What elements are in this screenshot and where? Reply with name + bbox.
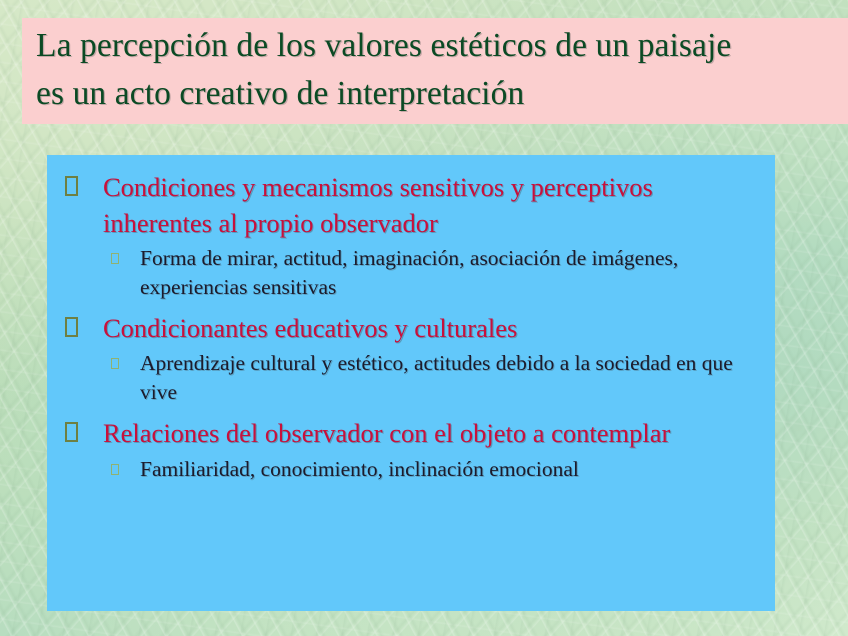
sub-list-wrapper: Forma de mirar, actitud, imaginación, as… xyxy=(101,244,757,301)
list-item: Forma de mirar, actitud, imaginación, as… xyxy=(101,244,757,301)
bullet-list-level-2: Aprendizaje cultural y estético, actitud… xyxy=(101,349,757,406)
list-item-label: Aprendizaje cultural y estético, actitud… xyxy=(140,349,757,406)
bullet-list-level-2: Familiaridad, conocimiento, inclinación … xyxy=(101,455,757,484)
slide-title: La percepción de los valores estéticos d… xyxy=(36,22,836,117)
list-item: Relaciones del observador con el objeto … xyxy=(61,415,757,451)
small-hollow-square-bullet-icon xyxy=(111,464,119,475)
hollow-square-bullet-icon xyxy=(65,317,78,337)
slide-title-band: La percepción de los valores estéticos d… xyxy=(22,18,848,124)
hollow-square-bullet-icon xyxy=(65,176,78,196)
sub-list-wrapper: Aprendizaje cultural y estético, actitud… xyxy=(101,349,757,406)
list-item: Aprendizaje cultural y estético, actitud… xyxy=(101,349,757,406)
small-hollow-square-bullet-icon xyxy=(111,253,119,264)
bullet-list-level-2: Forma de mirar, actitud, imaginación, as… xyxy=(101,244,757,301)
list-item-label: Condicionantes educativos y culturales xyxy=(103,310,757,346)
small-hollow-square-bullet-icon xyxy=(111,358,119,369)
sub-list-wrapper: Familiaridad, conocimiento, inclinación … xyxy=(101,455,757,484)
list-item-label: Relaciones del observador con el objeto … xyxy=(103,415,757,451)
slide-content-box: Condiciones y mecanismos sensitivos y pe… xyxy=(47,155,775,611)
list-item-label: Forma de mirar, actitud, imaginación, as… xyxy=(140,244,757,301)
list-item: Familiaridad, conocimiento, inclinación … xyxy=(101,455,757,484)
list-item-label: Condiciones y mecanismos sensitivos y pe… xyxy=(103,169,757,241)
bullet-list-level-1: Condiciones y mecanismos sensitivos y pe… xyxy=(61,169,757,483)
hollow-square-bullet-icon xyxy=(65,422,78,442)
list-item: Condiciones y mecanismos sensitivos y pe… xyxy=(61,169,757,241)
presentation-slide: La percepción de los valores estéticos d… xyxy=(0,0,848,636)
list-item-label: Familiaridad, conocimiento, inclinación … xyxy=(140,455,757,484)
list-item: Condicionantes educativos y culturales xyxy=(61,310,757,346)
